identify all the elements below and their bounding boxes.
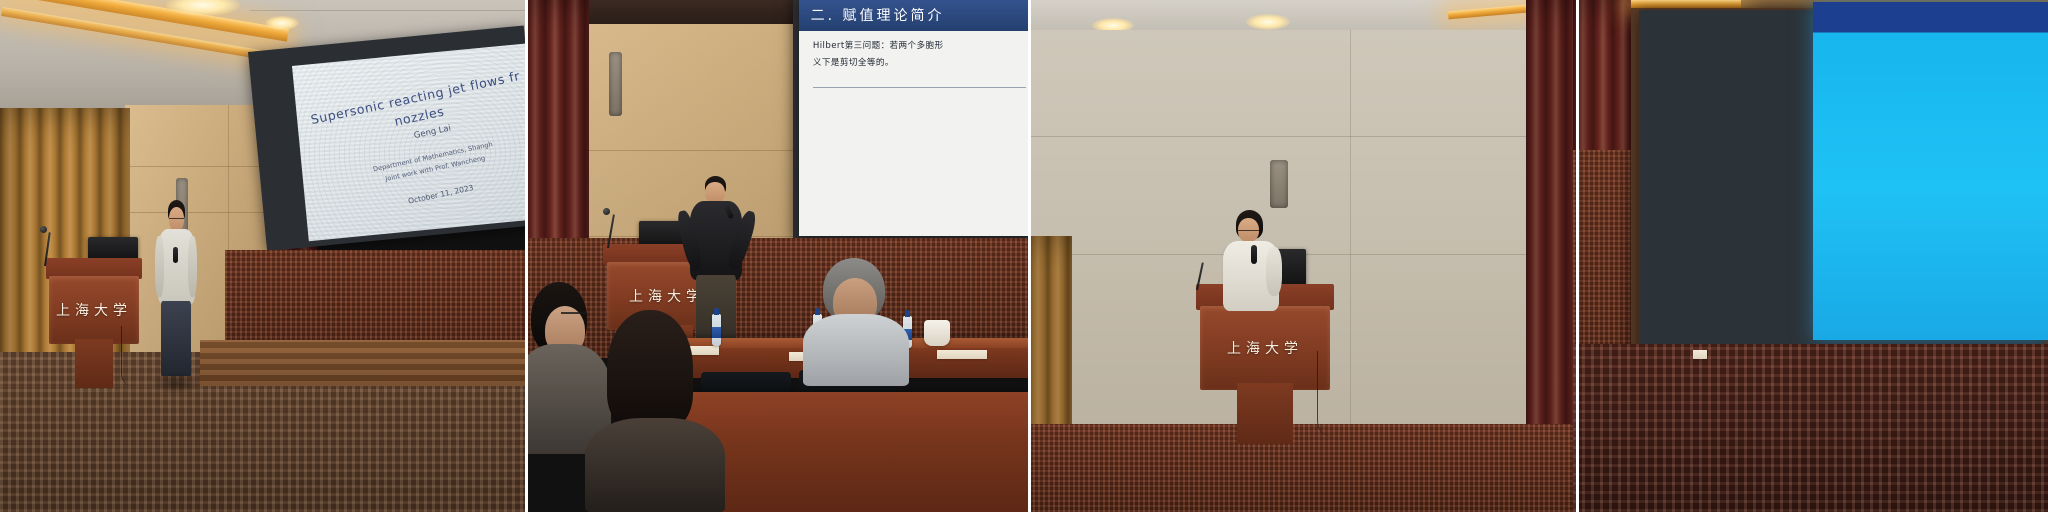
speaker-1-glasses: [169, 218, 184, 220]
screen-1-surface: Supersonic reacting jet flows fr nozzles…: [292, 43, 525, 241]
panel-2: 二. 赋值理论简介 Hilbert第三问题：若两个多胞形 义下是剪切全等的。 上…: [525, 0, 1028, 512]
speaker-1-shadow: [151, 373, 200, 395]
panel-divider: [1028, 0, 1031, 512]
slide-2: 二. 赋值理论简介 Hilbert第三问题：若两个多胞形 义下是剪切全等的。: [799, 0, 1028, 236]
floor-1: [200, 340, 525, 386]
teacup-with-lid: [924, 320, 950, 346]
water-bottle: [712, 314, 721, 346]
wall-seam: [1350, 30, 1351, 430]
audience-shoulder: [585, 418, 725, 512]
podium-3-column: [1237, 383, 1292, 444]
speaker-3: [1214, 210, 1288, 320]
wall-speaker: [1270, 160, 1288, 208]
speaker-1-legs: [161, 301, 190, 377]
ceiling-downlight: [265, 16, 299, 30]
mic-head-1: [40, 226, 47, 233]
slide-2-section-title: 二. 赋值理论简介: [799, 0, 1028, 31]
panel-divider: [525, 0, 528, 512]
slide-1-content: Supersonic reacting jet flows fr nozzles…: [292, 43, 525, 241]
speaker-1-handheld-mic: [173, 247, 178, 263]
podium-1-sign: 上海大学: [56, 300, 132, 320]
podium-1-column: [75, 339, 113, 388]
wall-seam: [1028, 136, 1573, 137]
bottle-cap: [714, 308, 719, 314]
podium-3-sign: 上海大学: [1227, 338, 1303, 358]
speaker-1-arm-left: [155, 236, 164, 297]
panel-4: [1573, 0, 2048, 512]
cove-light-strip: [1631, 0, 1741, 8]
panel-divider: [1576, 0, 1579, 512]
audience-head: [607, 310, 693, 430]
bottle-cap: [905, 310, 910, 316]
slide-2-rule: [813, 87, 1026, 88]
audience-glasses: [561, 312, 587, 314]
panel-3: 上海大学: [1028, 0, 1573, 512]
handout-paper: [937, 350, 987, 359]
speaker-1-arm-right: [188, 236, 197, 297]
slide-4: [1813, 2, 2048, 340]
bottle-cap: [815, 308, 820, 315]
photo-collage: Supersonic reacting jet flows fr nozzles…: [0, 0, 2048, 512]
speaker-3-handheld-mic: [1251, 245, 1257, 264]
ceiling-downlight: [1246, 14, 1290, 30]
panel-1: Supersonic reacting jet flows fr nozzles…: [0, 0, 525, 512]
floor-label: [1693, 350, 1707, 359]
audience-shoulder: [803, 314, 909, 386]
speaker-1: [148, 200, 204, 380]
podium-1-cable: [121, 326, 133, 386]
podium-1: 上海大学: [46, 258, 142, 388]
slide-2-body: Hilbert第三问题：若两个多胞形 义下是剪切全等的。: [813, 38, 1026, 72]
wall-speaker: [609, 52, 622, 116]
speaker-3-arm-right: [1266, 247, 1282, 295]
bottle-label: [712, 327, 721, 338]
carpet-4: [1573, 344, 2048, 512]
speaker-2-head: [705, 182, 725, 203]
mic-head-2: [603, 208, 610, 215]
speaker-3-glasses: [1238, 230, 1259, 232]
ceiling-seam: [250, 10, 525, 11]
podium-3-cable: [1317, 351, 1333, 437]
